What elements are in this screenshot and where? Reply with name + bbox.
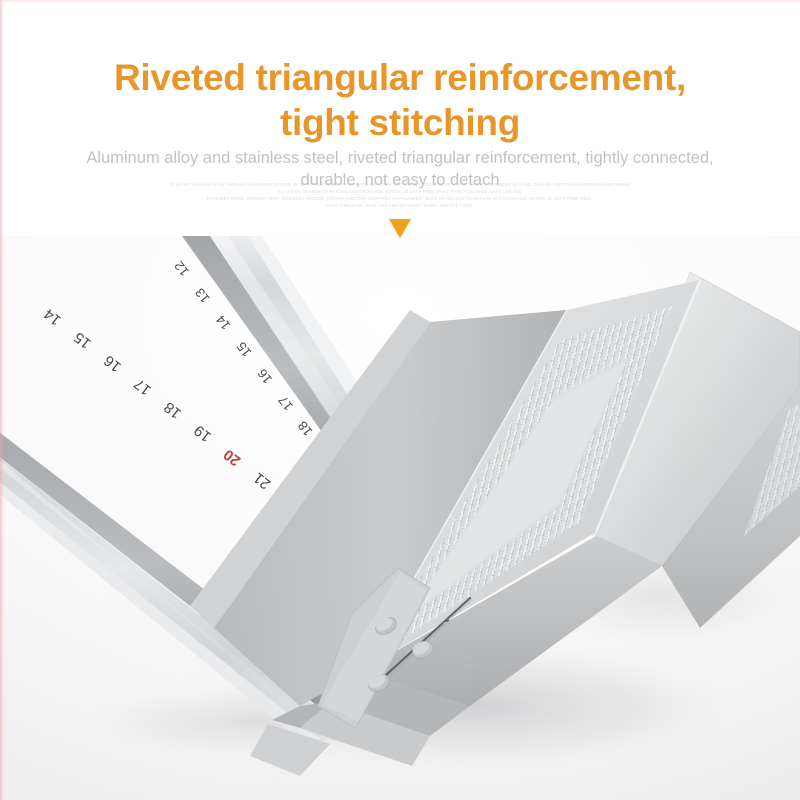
microtext-line-4: SAFE PURCHASE, SAFE USE AND EFFICIENT WO… — [0, 202, 800, 209]
headline-line-1: Riveted triangular reinforcement, — [114, 57, 686, 98]
down-triangle-icon — [389, 219, 411, 238]
headline-line-2: tight stitching — [0, 100, 800, 145]
top-edge-tint — [0, 0, 800, 3]
product-photo: 12 13 14 15 16 17 18 19 20 21 22 — [0, 236, 800, 800]
subtitle-line-2: durable, not easy to detach — [0, 169, 800, 191]
subtitle-line-1: Aluminum alloy and stainless steel, rive… — [86, 149, 713, 167]
page-title: Riveted triangular reinforcement, tight … — [0, 55, 800, 145]
product-banner: 12 13 14 15 16 17 18 19 20 21 22 — [0, 0, 800, 800]
subtitle: Aluminum alloy and stainless steel, rive… — [0, 147, 800, 192]
microtext-line-3: EFFICIENT WORK. SERVICE FIRST, BUSINESS … — [0, 195, 800, 202]
